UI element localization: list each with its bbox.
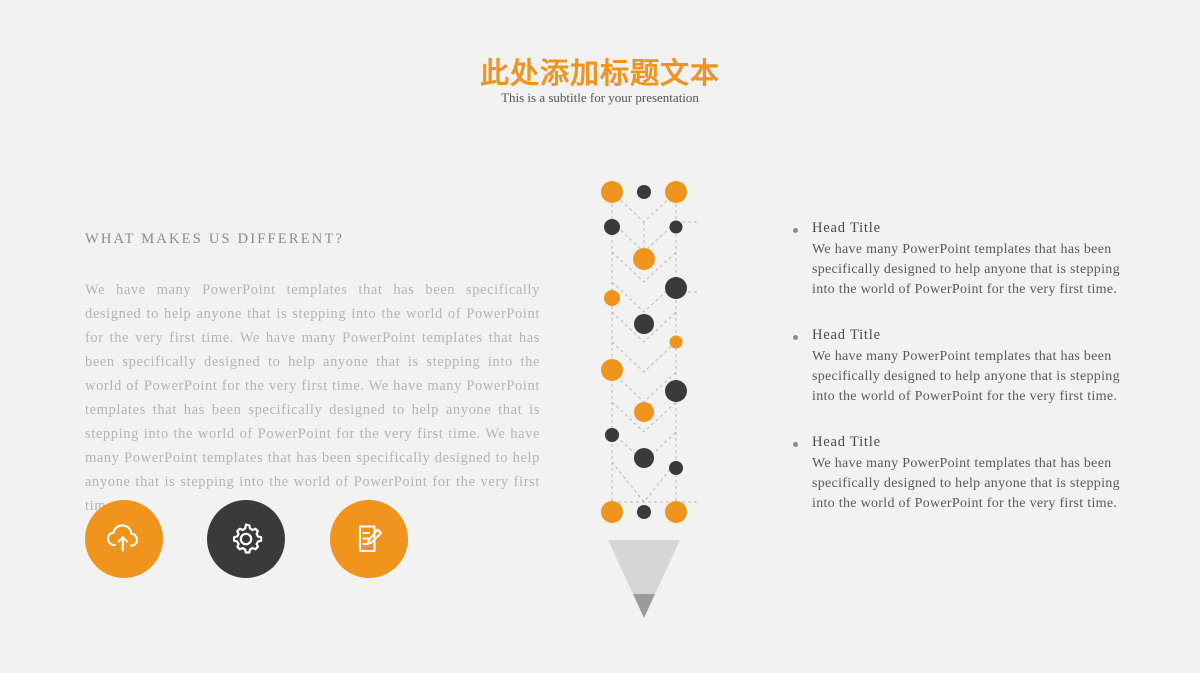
right-block-3-head: Head Title [812, 434, 1142, 451]
right-block-3: Head Title We have many PowerPoint templ… [812, 434, 1142, 514]
bullet-icon [793, 442, 798, 447]
right-block-2: Head Title We have many PowerPoint templ… [812, 327, 1142, 407]
bullet-icon [793, 228, 798, 233]
edit-document-icon-button[interactable] [330, 500, 408, 578]
edit-document-icon [349, 519, 389, 559]
gear-icon [226, 519, 266, 559]
cloud-upload-icon-button[interactable] [85, 500, 163, 578]
right-block-1-body: We have many PowerPoint templates that h… [812, 240, 1142, 300]
page-subtitle: This is a subtitle for your presentation [0, 90, 1200, 106]
bullet-icon [793, 335, 798, 340]
page-title: 此处添加标题文本 [0, 50, 1200, 92]
icon-row [85, 500, 505, 580]
pencil-node-diagram [590, 170, 700, 630]
right-block-1: Head Title We have many PowerPoint templ… [812, 220, 1142, 300]
cloud-upload-icon [104, 519, 144, 559]
left-section-body: We have many PowerPoint templates that h… [85, 278, 540, 518]
left-section-heading: WHAT MAKES US DIFFERENT? [85, 231, 344, 248]
gear-icon-button[interactable] [207, 500, 285, 578]
right-block-2-body: We have many PowerPoint templates that h… [812, 347, 1142, 407]
right-block-3-body: We have many PowerPoint templates that h… [812, 454, 1142, 514]
slide: 此处添加标题文本 This is a subtitle for your pre… [0, 0, 1200, 673]
right-block-1-head: Head Title [812, 220, 1142, 237]
right-block-2-head: Head Title [812, 327, 1142, 344]
